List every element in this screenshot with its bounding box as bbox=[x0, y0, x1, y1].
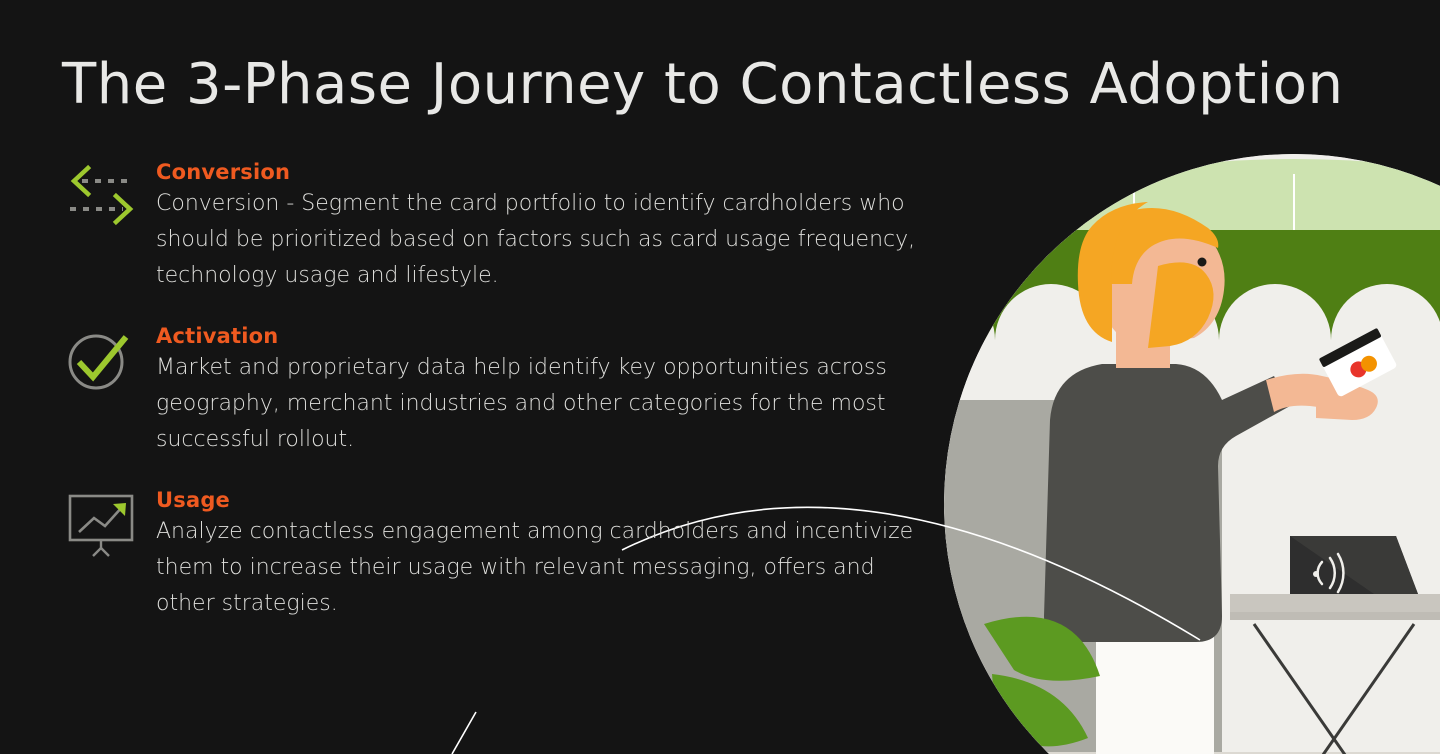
phase-item-usage[interactable]: Usage Analyze contactless engagement amo… bbox=[58, 488, 938, 622]
phase-item-conversion[interactable]: Conversion Conversion - Segment the card… bbox=[58, 160, 938, 294]
counter-top bbox=[1230, 594, 1440, 612]
phase-body-usage: Usage Analyze contactless engagement amo… bbox=[154, 488, 938, 622]
slide-canvas: The 3-Phase Journey to Contactless Adopt… bbox=[0, 0, 1440, 754]
phase-description: Market and proprietary data help identif… bbox=[156, 350, 938, 458]
growth-chart-board-icon-svg bbox=[66, 492, 138, 558]
payment-terminal bbox=[1290, 536, 1418, 594]
illustration-circle-clip bbox=[944, 154, 1440, 754]
illustration-contactless-payment-scene bbox=[944, 154, 1440, 754]
phase-item-activation[interactable]: Activation Market and proprietary data h… bbox=[58, 324, 938, 458]
growth-chart-board-icon bbox=[58, 488, 154, 560]
phase-title: Usage bbox=[156, 488, 938, 512]
dashed-arrows-icon bbox=[58, 160, 154, 232]
phase-body-conversion: Conversion Conversion - Segment the card… bbox=[154, 160, 938, 294]
phase-title: Activation bbox=[156, 324, 938, 348]
dashed-arrows-icon-svg bbox=[66, 164, 138, 226]
person-eye bbox=[1198, 258, 1207, 267]
check-circle-icon bbox=[58, 324, 154, 396]
check-circle-icon-svg bbox=[66, 328, 132, 392]
phase-description: Conversion - Segment the card portfolio … bbox=[156, 186, 938, 294]
counter-edge bbox=[1230, 612, 1440, 620]
white-diagonal-line bbox=[452, 712, 476, 754]
scene-svg bbox=[944, 154, 1440, 754]
page-title: The 3-Phase Journey to Contactless Adopt… bbox=[62, 52, 1344, 117]
phase-title: Conversion bbox=[156, 160, 938, 184]
phase-list: Conversion Conversion - Segment the card… bbox=[58, 160, 938, 652]
phase-description: Analyze contactless engagement among car… bbox=[156, 514, 938, 622]
phase-body-activation: Activation Market and proprietary data h… bbox=[154, 324, 938, 458]
